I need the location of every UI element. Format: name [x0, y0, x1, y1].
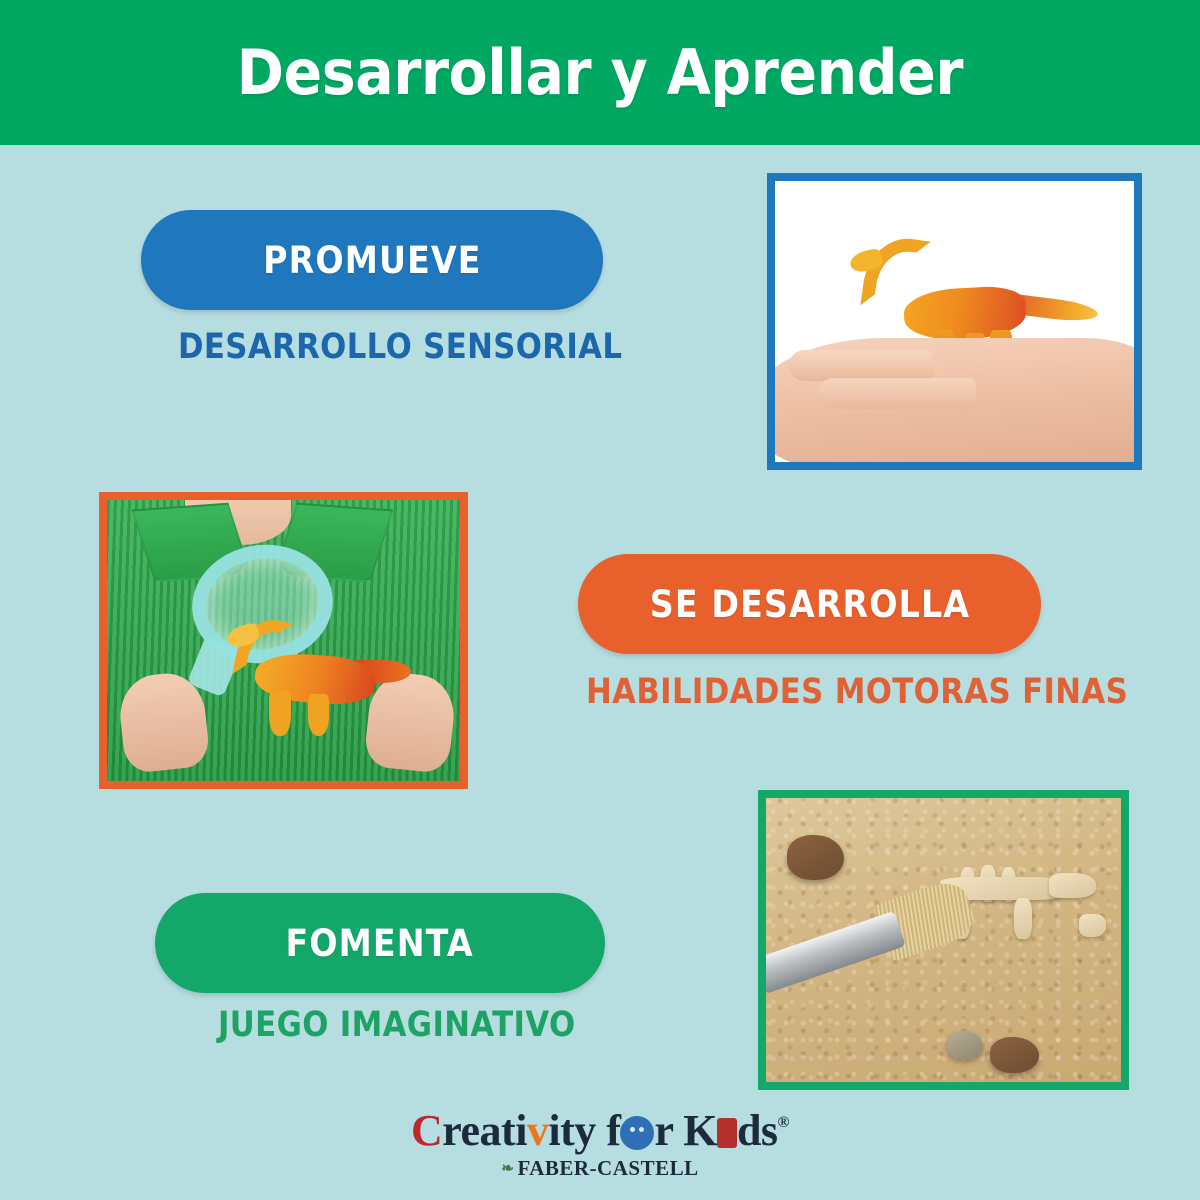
brand-logo-word-for: fr	[606, 1106, 672, 1155]
benefit-pill-fomenta[interactable]: FOMENTA	[155, 893, 605, 993]
dinosaur-neck-shape	[860, 233, 931, 314]
photo-inner-fossil-dig	[766, 798, 1121, 1082]
hand-holding-dinosaur-toy-photo	[775, 181, 1134, 462]
poster-root: Desarrollar y Aprender PROMUEVE DESARROL…	[0, 0, 1200, 1200]
benefit-pill-promueve[interactable]: PROMUEVE	[141, 210, 603, 310]
brand-logo-subtitle: ❧FABER-CASTELL	[0, 1156, 1200, 1181]
crayon-icon	[717, 1118, 737, 1148]
benefit-caption-imaginativo: JUEGO IMAGINATIVO	[218, 1005, 576, 1045]
laurel-icon: ❧	[501, 1159, 514, 1178]
benefit-pill-label: FOMENTA	[286, 922, 474, 965]
benefit-pill-label: PROMUEVE	[263, 239, 481, 282]
brand-logo-creativity-tail: ity	[548, 1106, 595, 1155]
rock-shape	[947, 1031, 983, 1059]
brand-logo-letter-c: C	[411, 1106, 442, 1155]
brand-logo-letter-v: v	[527, 1106, 549, 1155]
brand-logo: Creativity fr Kds® ❧FABER-CASTELL	[0, 1108, 1200, 1181]
fossil-leg-shape	[1014, 898, 1031, 939]
brand-logo-creativity-rest: reati	[442, 1106, 527, 1155]
button-icon	[620, 1116, 654, 1150]
photo-inner-hand-dinosaur	[775, 181, 1134, 462]
excavation-brush-dinosaur-fossil-in-sand-photo	[766, 798, 1121, 1082]
fossil-skull-shape	[1049, 873, 1097, 898]
brand-logo-word-kids: Kds	[683, 1106, 777, 1155]
photo-frame-magnifier-dinosaur	[99, 492, 468, 789]
dinosaur-leg-shape	[269, 691, 290, 736]
brand-logo-wordmark: Creativity fr Kds®	[0, 1108, 1200, 1154]
photo-frame-fossil-dig	[758, 790, 1129, 1090]
rock-shape	[990, 1037, 1040, 1074]
benefit-pill-label: SE DESARROLLA	[649, 583, 969, 626]
brand-logo-registered-mark: ®	[778, 1114, 789, 1131]
photo-frame-hand-dinosaur	[767, 173, 1142, 470]
fossil-fragment-shape	[1079, 914, 1106, 936]
page-title: Desarrollar y Aprender	[237, 36, 963, 109]
child-with-magnifying-glass-and-dinosaur-photo	[107, 500, 460, 781]
header-band: Desarrollar y Aprender	[0, 0, 1200, 145]
benefit-caption-sensorial: DESARROLLO SENSORIAL	[178, 327, 622, 367]
brand-logo-subtitle-text: FABER-CASTELL	[517, 1156, 698, 1180]
dinosaur-leg-shape	[308, 694, 329, 736]
rock-shape	[787, 835, 844, 880]
benefit-caption-motoras: HABILIDADES MOTORAS FINAS	[586, 672, 1128, 712]
photo-inner-magnifier-dinosaur	[107, 500, 460, 781]
finger-shape	[789, 350, 933, 381]
benefit-pill-se-desarrolla[interactable]: SE DESARROLLA	[578, 554, 1041, 654]
finger-shape	[818, 378, 976, 409]
